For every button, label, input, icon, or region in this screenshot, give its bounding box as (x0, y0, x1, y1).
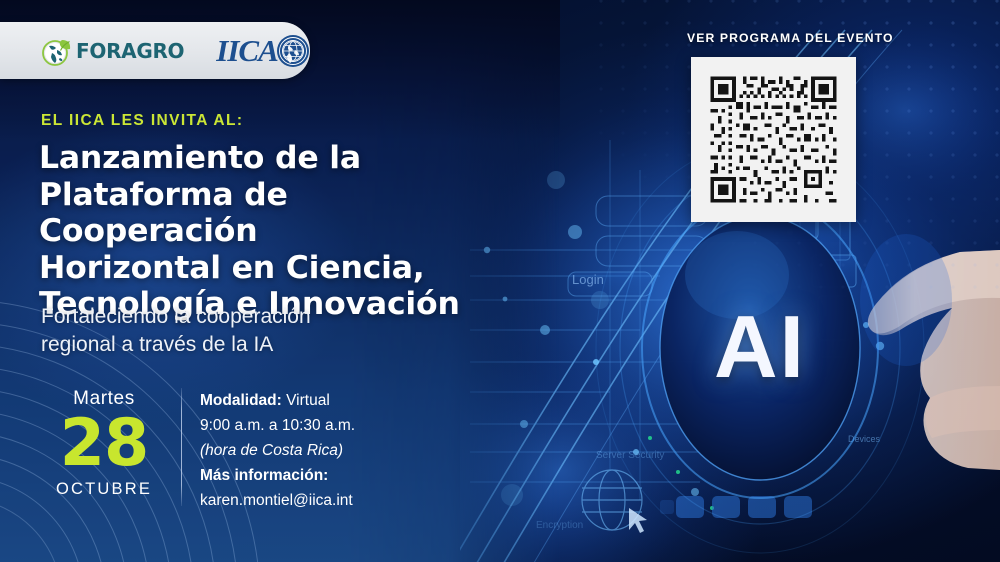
vertical-divider (181, 388, 182, 506)
qr-label: VER PROGRAMA DEL EVENTO (687, 31, 894, 45)
contact-email[interactable]: karen.montiel@iica.int (200, 492, 353, 509)
more-info-row: Más información: (200, 463, 450, 488)
event-poster: Devices Login Server Security Encryption (0, 0, 1000, 562)
qr-code-icon[interactable] (707, 73, 840, 206)
time-row: 9:00 a.m. a 10:30 a.m. (200, 413, 450, 438)
foragro-wordmark: FORAGRO (76, 39, 184, 63)
ai-orb-graphic: AI (660, 212, 860, 482)
event-details-block: Modalidad: Virtual 9:00 a.m. a 10:30 a.m… (200, 388, 450, 514)
iica-seal-icon (276, 34, 310, 68)
qr-code-card[interactable] (691, 57, 856, 222)
headline-line-3: Horizontal en Ciencia, (39, 250, 509, 287)
iica-logo: IICA (216, 33, 309, 69)
more-info-label: Más información: (200, 467, 328, 484)
event-timezone: (hora de Costa Rica) (200, 442, 343, 459)
ai-label: AI (660, 212, 860, 482)
headline-line-1: Lanzamiento de la (39, 140, 509, 177)
headline-line-2: Plataforma de Cooperación (39, 177, 509, 250)
event-time: 9:00 a.m. a 10:30 a.m. (200, 417, 355, 434)
event-day-number: 28 (40, 413, 168, 475)
globe-leaf-icon (40, 34, 74, 68)
logo-bar: FORAGRO IICA (0, 22, 310, 79)
invitation-kicker: EL IICA LES INVITA AL: (41, 112, 243, 130)
modality-label: Modalidad: (200, 392, 282, 409)
page-subtitle: Fortaleciendo la cooperación regional a … (41, 303, 441, 359)
svg-text:Server Security: Server Security (596, 450, 664, 461)
subtitle-line-2: regional a través de la IA (41, 331, 441, 359)
event-date-block: Martes 28 OCTUBRE (40, 388, 168, 499)
contact-email-row[interactable]: karen.montiel@iica.int (200, 488, 450, 513)
foragro-logo: FORAGRO (40, 34, 184, 68)
modality-row: Modalidad: Virtual (200, 388, 450, 413)
event-month: OCTUBRE (40, 480, 168, 499)
page-title: Lanzamiento de la Plataforma de Cooperac… (39, 140, 509, 323)
modality-value: Virtual (286, 392, 330, 409)
iica-wordmark: IICA (216, 33, 277, 69)
subtitle-line-1: Fortaleciendo la cooperación (41, 303, 441, 331)
timezone-row: (hora de Costa Rica) (200, 438, 450, 463)
